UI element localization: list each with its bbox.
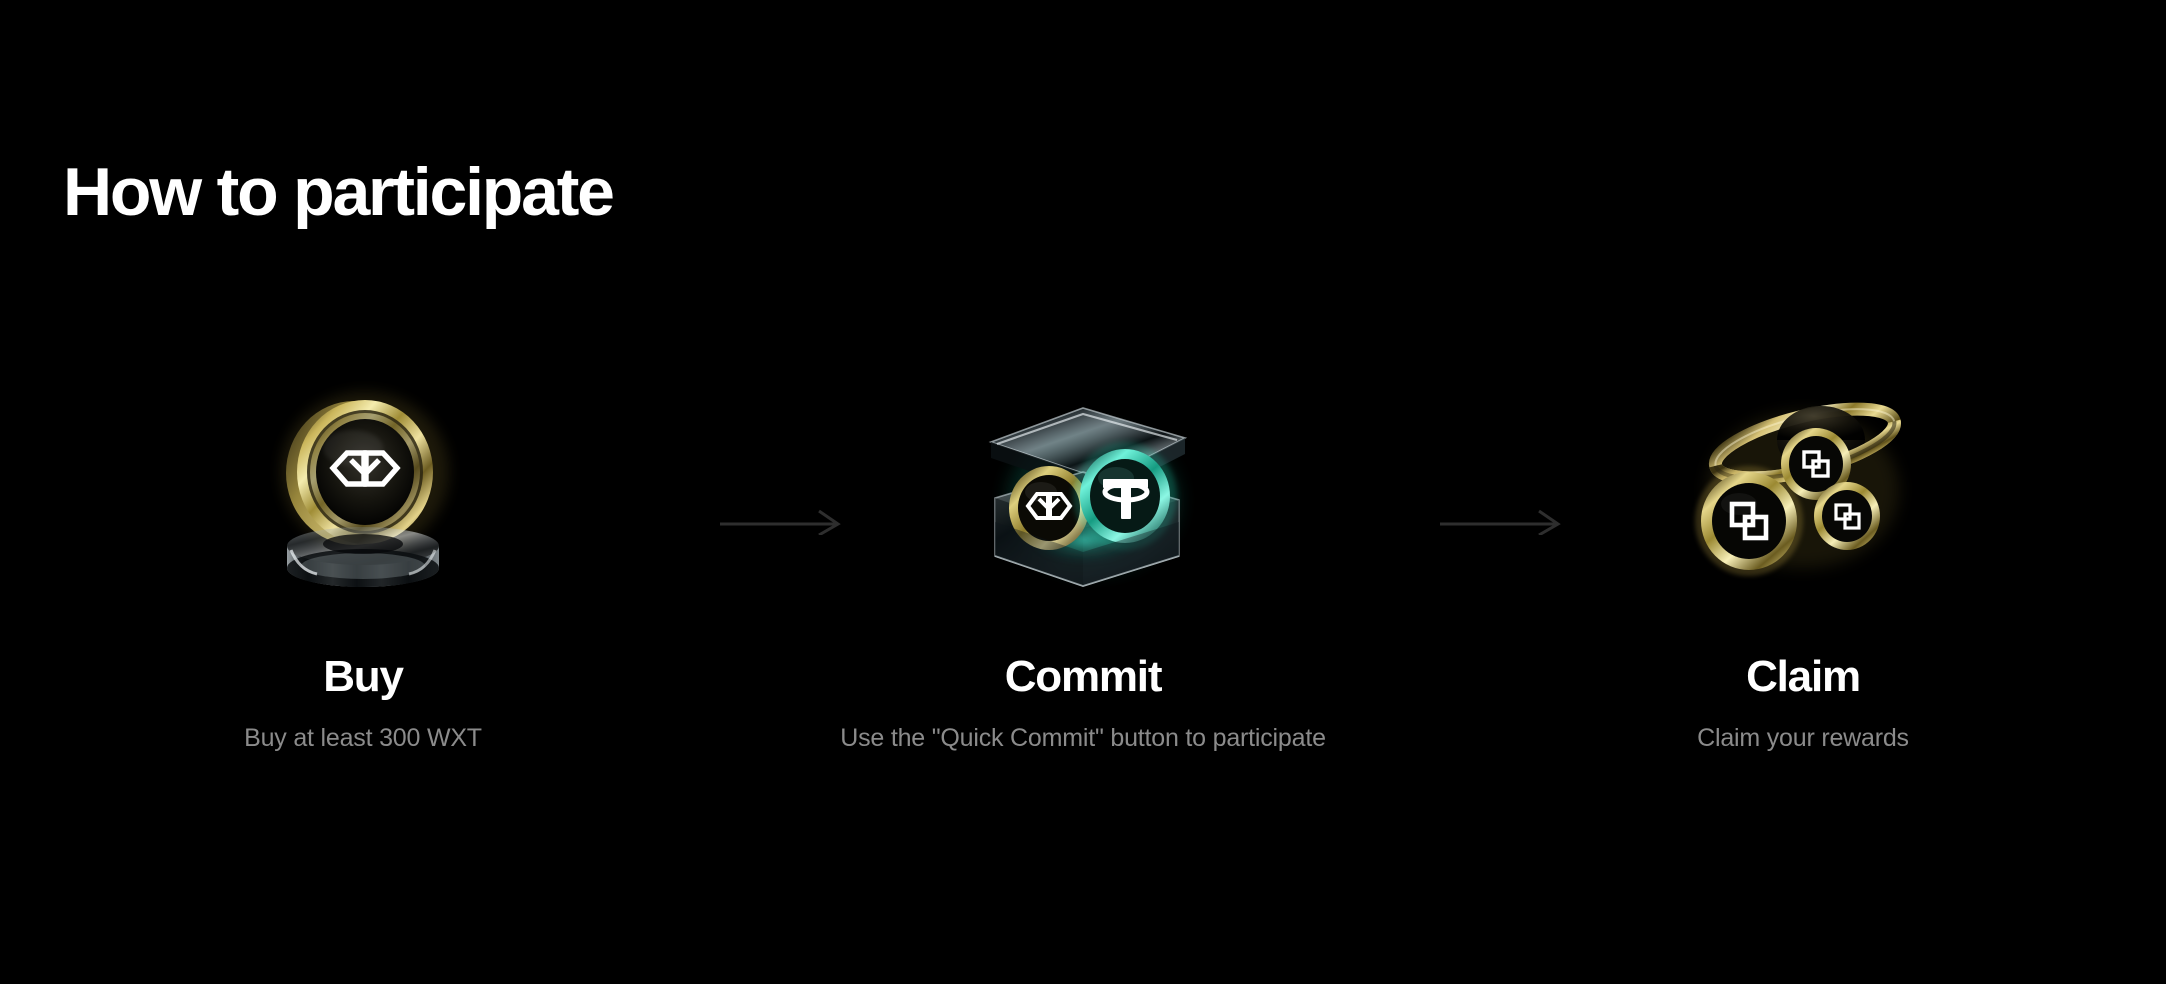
buy-artwork bbox=[213, 380, 513, 610]
connector-buy-to-commit bbox=[718, 505, 843, 535]
coin-large bbox=[1695, 466, 1803, 576]
how-to-participate-section: How to participate bbox=[0, 0, 2166, 984]
coin-small bbox=[1814, 482, 1880, 550]
step-title-commit: Commit bbox=[1005, 655, 1162, 699]
step-description-commit: Use the "Quick Commit" button to partici… bbox=[840, 726, 1326, 751]
step-description-claim: Claim your rewards bbox=[1697, 726, 1909, 751]
step-commit: Commit Use the "Quick Commit" button to … bbox=[723, 380, 1443, 751]
step-claim: Claim Claim your rewards bbox=[1443, 380, 2163, 751]
commit-artwork bbox=[933, 380, 1233, 610]
connector-commit-to-claim bbox=[1438, 505, 1563, 535]
glass-chest-with-coins-icon bbox=[933, 380, 1233, 610]
step-title-claim: Claim bbox=[1746, 655, 1860, 699]
gold-coins-with-ring-icon bbox=[1653, 380, 1953, 610]
arrow-right-icon bbox=[1438, 505, 1563, 535]
claim-artwork bbox=[1653, 380, 1953, 610]
step-buy: Buy Buy at least 300 WXT bbox=[3, 380, 723, 751]
step-description-buy: Buy at least 300 WXT bbox=[244, 726, 482, 751]
glass-pedestal bbox=[287, 527, 439, 587]
section-title: How to participate bbox=[63, 158, 613, 226]
steps-row: Buy Buy at least 300 WXT bbox=[0, 380, 2166, 880]
gold-coin-on-pedestal-icon bbox=[213, 380, 513, 610]
step-title-buy: Buy bbox=[323, 655, 403, 699]
arrow-right-icon bbox=[718, 505, 843, 535]
